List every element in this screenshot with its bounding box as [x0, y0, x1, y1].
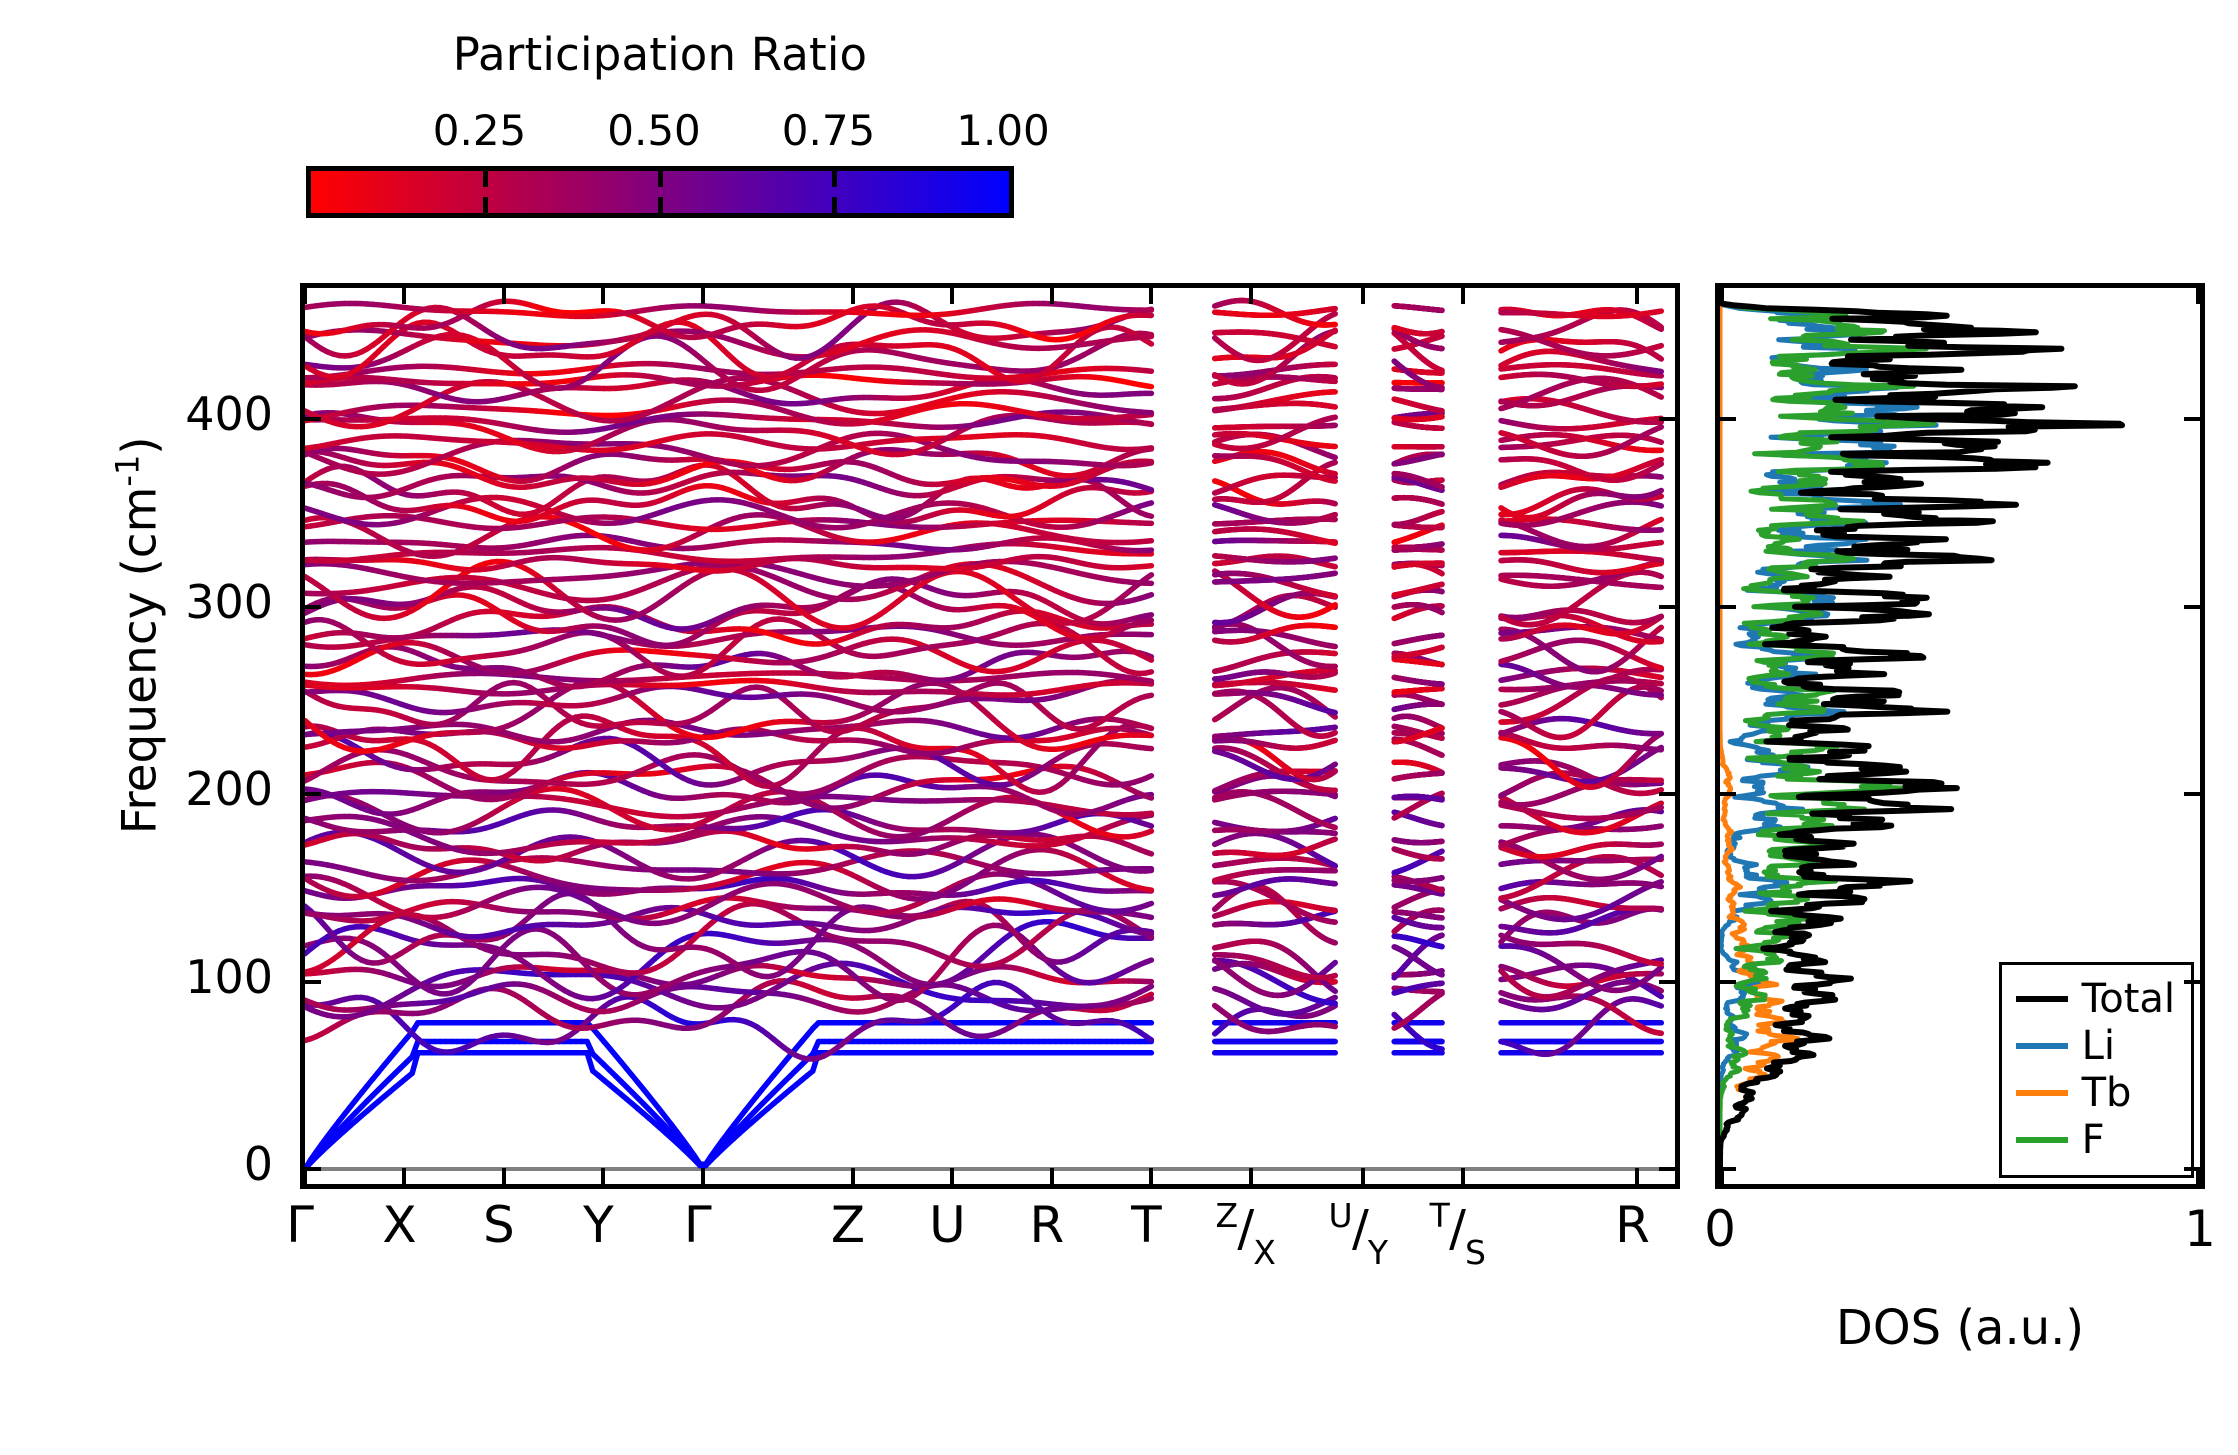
band-y-tick-label-2: 200 [185, 762, 273, 816]
colorbar-tick-0 [483, 171, 488, 187]
colorbar-title: Participation Ratio [300, 28, 1020, 81]
band-y-tick-label-3: 300 [185, 575, 273, 629]
band-plot-area [305, 288, 1675, 1184]
phonon-figure: Participation Ratio 0.250.500.751.00 010… [0, 0, 2238, 1455]
colorbar-tick-bottom-1 [658, 197, 663, 213]
colorbar-tick-label-2: 0.75 [782, 106, 876, 155]
colorbar-tick-label-3: 1.00 [956, 106, 1050, 155]
colorbar-block: Participation Ratio 0.250.500.751.00 [300, 28, 1020, 198]
colorbar-tick-2 [832, 171, 837, 187]
colorbar-tick-bottom-0 [483, 197, 488, 213]
band-y-tick-label-1: 100 [185, 950, 273, 1004]
band-segment [1146, 1036, 1152, 1040]
colorbar-tick-label-1: 0.50 [607, 106, 701, 155]
band-y-axis-title-tail: ) [112, 436, 167, 454]
colorbar-tick-labels: 0.250.500.751.00 [300, 106, 1020, 156]
colorbar-tick-bottom-2 [832, 197, 837, 213]
band-segment [1660, 996, 1661, 997]
band-structure-plot[interactable] [300, 283, 1680, 1189]
band-y-tick-label-0: 0 [244, 1137, 273, 1191]
band-segment [1146, 986, 1152, 989]
band-y-axis-title-exponent: -1 [109, 455, 147, 487]
colorbar-tick-label-0: 0.25 [433, 106, 527, 155]
band-y-axis-title: Frequency (cm-1) [109, 185, 168, 1085]
band-curves [305, 288, 1675, 1184]
colorbar-tick-1 [658, 171, 663, 187]
band-y-axis-title-main: Frequency (cm [112, 487, 167, 835]
band-segment [1146, 960, 1152, 962]
band-segment [1146, 998, 1152, 1000]
band-y-tick-label-4: 400 [185, 387, 273, 441]
colorbar-gradient [306, 166, 1014, 218]
